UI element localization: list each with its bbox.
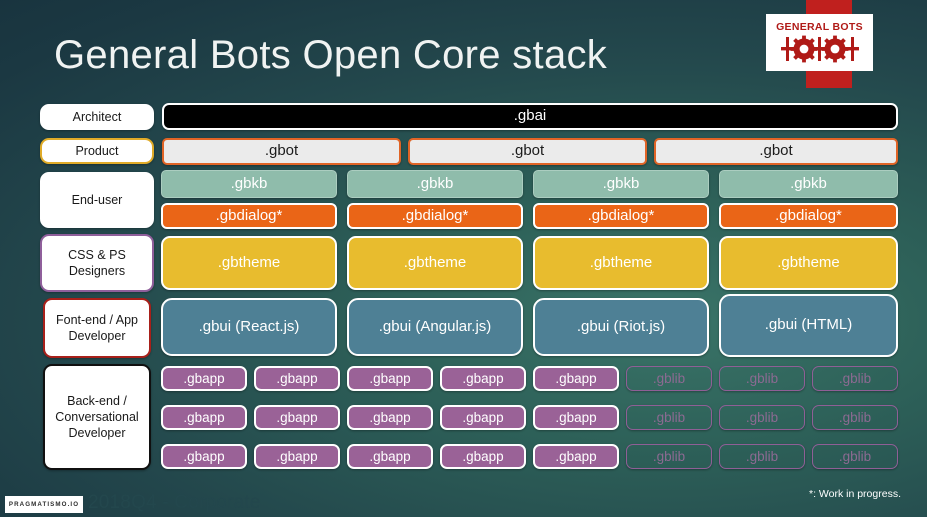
block-gbui-riot[interactable]: .gbui (Riot.js): [533, 298, 709, 356]
block-gbapp[interactable]: .gbapp: [533, 366, 619, 391]
block-label: .gbkb: [417, 176, 454, 193]
block-label: .gbtheme: [218, 255, 281, 272]
block-label: .gbapp: [369, 371, 410, 386]
two-gears-icon: [778, 35, 862, 63]
block-label: .gbapp: [369, 410, 410, 425]
block-gbapp[interactable]: .gbapp: [161, 366, 247, 391]
role-label-text: Architect: [73, 109, 122, 125]
block-label: .gblib: [839, 371, 871, 386]
block-label: .gbui (Angular.js): [379, 319, 492, 336]
role-label-css-ps-designers: CSS & PSDesigners: [40, 234, 154, 292]
block-label: .gblib: [746, 371, 778, 386]
block-gblib[interactable]: .gblib: [719, 366, 805, 391]
block-label: .gbapp: [462, 410, 503, 425]
block-label: .gbot: [265, 143, 298, 160]
block-label: .gblib: [839, 410, 871, 425]
block-gbdialog-3[interactable]: .gbdialog*: [533, 203, 709, 229]
block-label: .gbapp: [183, 410, 224, 425]
block-gbtheme-3[interactable]: .gbtheme: [533, 236, 709, 290]
block-label: .gblib: [653, 410, 685, 425]
block-gbapp[interactable]: .gbapp: [254, 444, 340, 469]
block-label: .gblib: [746, 410, 778, 425]
block-label: .gbtheme: [404, 255, 467, 272]
block-gbapp[interactable]: .gbapp: [347, 405, 433, 430]
role-label-text: Product: [75, 143, 118, 159]
block-label: .gbapp: [555, 410, 596, 425]
block-label: .gblib: [839, 449, 871, 464]
block-label: .gbapp: [276, 410, 317, 425]
logo-brand-text: GENERAL BOTS: [776, 22, 863, 33]
role-label-architect: Architect: [40, 104, 154, 130]
block-gblib[interactable]: .gblib: [812, 366, 898, 391]
block-label: .gbapp: [555, 371, 596, 386]
block-gbapp[interactable]: .gbapp: [161, 405, 247, 430]
work-in-progress-note: *: Work in progress.: [809, 488, 901, 500]
block-label: .gbot: [759, 143, 792, 160]
block-label: .gbkb: [790, 176, 827, 193]
footer-caption: 2018Q4 - Corporate: [88, 492, 261, 514]
block-label: .gbai: [514, 108, 547, 125]
block-gbot-2[interactable]: .gbot: [408, 138, 647, 165]
pragmatismo-logo: PRAGMATISMO.IO: [5, 496, 83, 513]
block-label: .gbapp: [462, 371, 503, 386]
block-label: .gblib: [653, 371, 685, 386]
block-gbtheme-4[interactable]: .gbtheme: [719, 236, 898, 290]
block-gblib[interactable]: .gblib: [719, 405, 805, 430]
block-gbapp[interactable]: .gbapp: [533, 444, 619, 469]
block-gbui-angular[interactable]: .gbui (Angular.js): [347, 298, 523, 356]
block-label: .gbui (React.js): [199, 319, 300, 336]
block-label: .gbapp: [183, 449, 224, 464]
block-gbdialog-1[interactable]: .gbdialog*: [161, 203, 337, 229]
block-gbtheme-2[interactable]: .gbtheme: [347, 236, 523, 290]
block-label: .gbapp: [276, 449, 317, 464]
block-gbui-html[interactable]: .gbui (HTML): [719, 294, 898, 357]
block-gblib[interactable]: .gblib: [626, 366, 712, 391]
block-label: .gbot: [511, 143, 544, 160]
block-gbapp[interactable]: .gbapp: [440, 405, 526, 430]
block-label: .gbui (Riot.js): [577, 319, 665, 336]
block-label: .gbkb: [231, 176, 268, 193]
block-gbapp[interactable]: .gbapp: [161, 444, 247, 469]
block-label: .gbapp: [183, 371, 224, 386]
block-label: .gbapp: [276, 371, 317, 386]
role-label-product: Product: [40, 138, 154, 164]
pragmatismo-logo-text: PRAGMATISMO.IO: [9, 501, 79, 508]
role-label-text: Back-end /ConversationalDeveloper: [55, 393, 138, 442]
block-gblib[interactable]: .gblib: [719, 444, 805, 469]
block-label: .gbdialog*: [402, 208, 469, 225]
block-gbapp[interactable]: .gbapp: [440, 366, 526, 391]
block-label: .gbtheme: [777, 255, 840, 272]
role-label-text: Font-end / AppDeveloper: [56, 312, 138, 345]
block-gbot-3[interactable]: .gbot: [654, 138, 898, 165]
block-label: .gbui (HTML): [765, 317, 853, 334]
block-label: .gblib: [746, 449, 778, 464]
block-gbai[interactable]: .gbai: [162, 103, 898, 130]
block-gbkb-1[interactable]: .gbkb: [161, 170, 337, 198]
block-gbui-react[interactable]: .gbui (React.js): [161, 298, 337, 356]
block-gbdialog-2[interactable]: .gbdialog*: [347, 203, 523, 229]
block-gbapp[interactable]: .gbapp: [347, 444, 433, 469]
role-label-end-user: End-user: [40, 172, 154, 228]
block-gbapp[interactable]: .gbapp: [254, 366, 340, 391]
role-label-backend-conversational-developer: Back-end /ConversationalDeveloper: [43, 364, 151, 470]
block-label: .gbdialog*: [216, 208, 283, 225]
block-gbkb-4[interactable]: .gbkb: [719, 170, 898, 198]
block-gbapp[interactable]: .gbapp: [440, 444, 526, 469]
block-gbdialog-4[interactable]: .gbdialog*: [719, 203, 898, 229]
slide-canvas: GENERAL BOTS: [0, 0, 927, 517]
role-label-text: End-user: [72, 192, 123, 208]
block-label: .gbkb: [603, 176, 640, 193]
block-label: .gblib: [653, 449, 685, 464]
block-label: .gbapp: [462, 449, 503, 464]
role-label-frontend-app-developer: Font-end / AppDeveloper: [43, 298, 151, 358]
block-gbkb-2[interactable]: .gbkb: [347, 170, 523, 198]
block-gbapp[interactable]: .gbapp: [254, 405, 340, 430]
block-label: .gbdialog*: [588, 208, 655, 225]
block-gblib[interactable]: .gblib: [812, 405, 898, 430]
block-label: .gbtheme: [590, 255, 653, 272]
block-gbapp[interactable]: .gbapp: [347, 366, 433, 391]
block-label: .gbdialog*: [775, 208, 842, 225]
block-gblib[interactable]: .gblib: [626, 444, 712, 469]
block-gblib[interactable]: .gblib: [626, 405, 712, 430]
block-gbkb-3[interactable]: .gbkb: [533, 170, 709, 198]
role-label-text: CSS & PSDesigners: [68, 247, 126, 280]
general-bots-logo: GENERAL BOTS: [766, 14, 873, 71]
block-gbapp[interactable]: .gbapp: [533, 405, 619, 430]
block-gbtheme-1[interactable]: .gbtheme: [161, 236, 337, 290]
page-title: General Bots Open Core stack: [54, 33, 607, 78]
block-label: .gbapp: [555, 449, 596, 464]
block-gbot-1[interactable]: .gbot: [162, 138, 401, 165]
block-gblib[interactable]: .gblib: [812, 444, 898, 469]
block-label: .gbapp: [369, 449, 410, 464]
